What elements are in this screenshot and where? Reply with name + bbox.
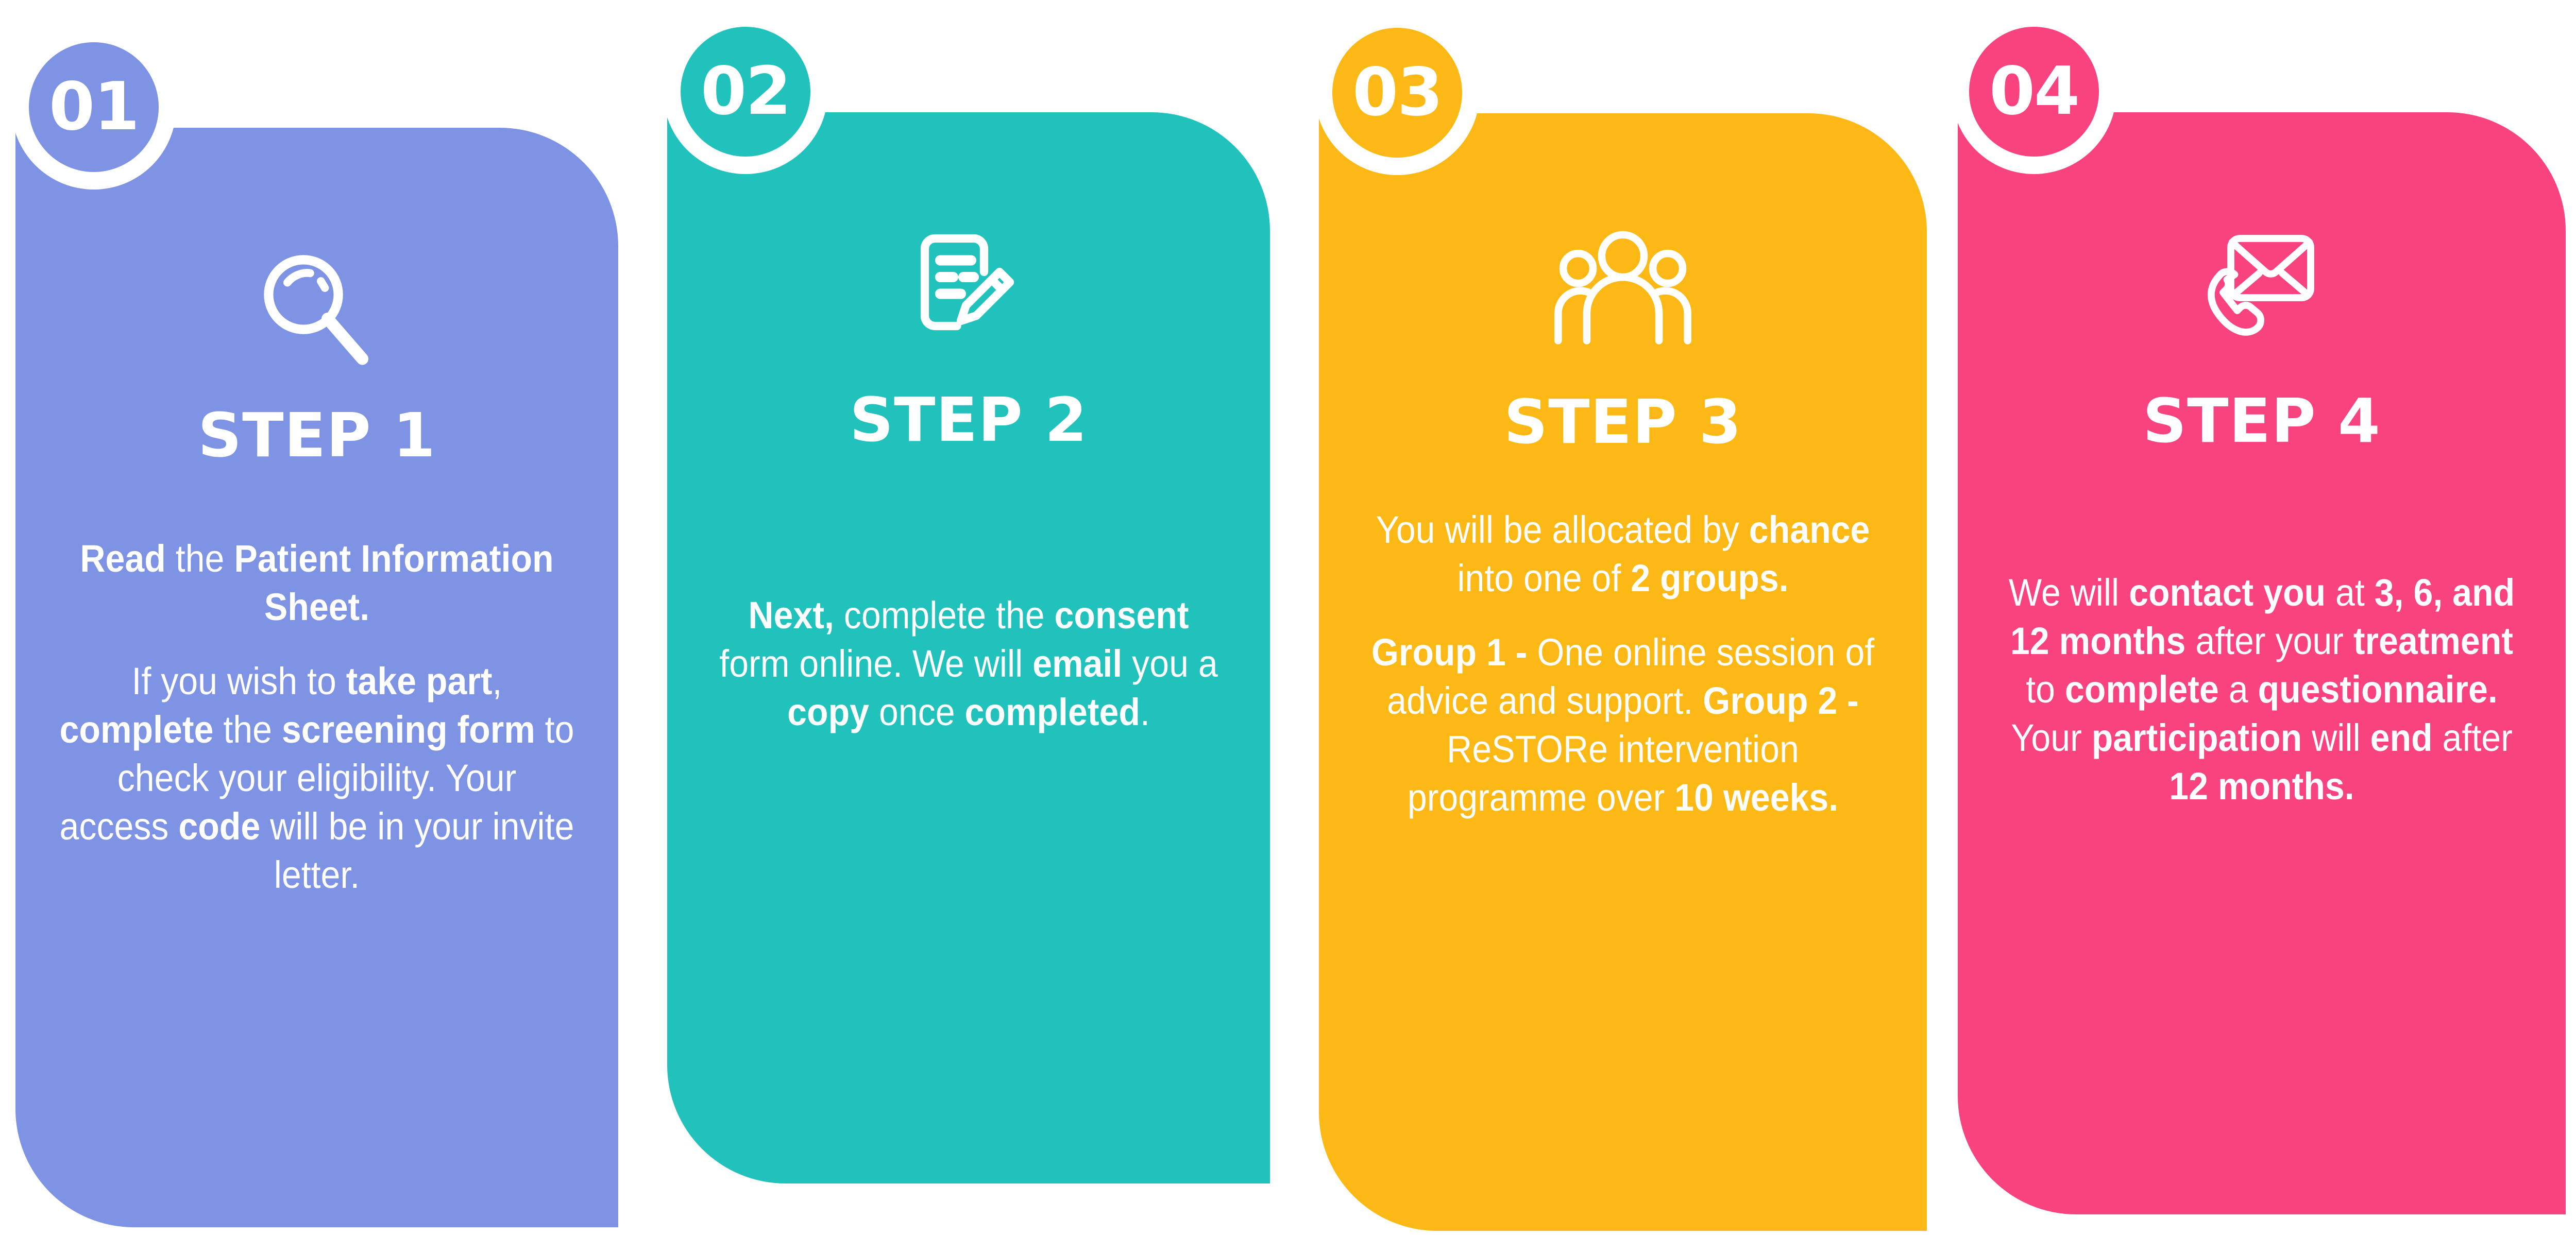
envelope-phone-icon <box>1958 215 2566 344</box>
step-title-1: STEP 1 <box>15 405 618 466</box>
step-title-3: STEP 3 <box>1319 391 1927 452</box>
steps-infographic: 01 STEP 1 Read the Patient Information S… <box>0 0 2576 1235</box>
copy-paragraph: Next, complete the consent form online. … <box>710 591 1227 736</box>
step-number-badge-1: 01 <box>11 25 176 190</box>
step-title-2: STEP 2 <box>667 389 1270 450</box>
paragraph-spacer <box>59 631 575 657</box>
copy-paragraph: Group 1 - One online session of advice a… <box>1362 628 1884 822</box>
step-number-3: 03 <box>1332 28 1462 158</box>
step-number-2: 02 <box>681 27 810 157</box>
copy-paragraph: Read the Patient Information Sheet. <box>59 535 575 631</box>
step-number-badge-3: 03 <box>1315 10 1480 175</box>
step-copy-3: You will be allocated by chance into one… <box>1343 506 1903 822</box>
copy-paragraph: If you wish to take part, complete the s… <box>59 657 575 899</box>
step-title-4: STEP 4 <box>1958 390 2566 451</box>
step-copy-2: Next, complete the consent form online. … <box>691 591 1246 736</box>
step-number-badge-2: 02 <box>663 9 828 174</box>
step-number-badge-4: 04 <box>1952 9 2116 174</box>
magnifying-glass-icon <box>15 241 618 375</box>
step-number-1: 01 <box>29 42 159 172</box>
step-number-4: 04 <box>1969 27 2099 157</box>
group-of-people-icon <box>1319 221 1927 350</box>
paragraph-spacer <box>1362 603 1884 628</box>
step-copy-4: We will contact you at 3, 6, and 12 mont… <box>1982 569 2541 811</box>
document-pencil-icon <box>667 215 1270 344</box>
copy-paragraph: We will contact you at 3, 6, and 12 mont… <box>2001 569 2522 811</box>
step-copy-1: Read the Patient Information Sheet.If yo… <box>40 535 594 899</box>
copy-paragraph: You will be allocated by chance into one… <box>1362 506 1884 603</box>
